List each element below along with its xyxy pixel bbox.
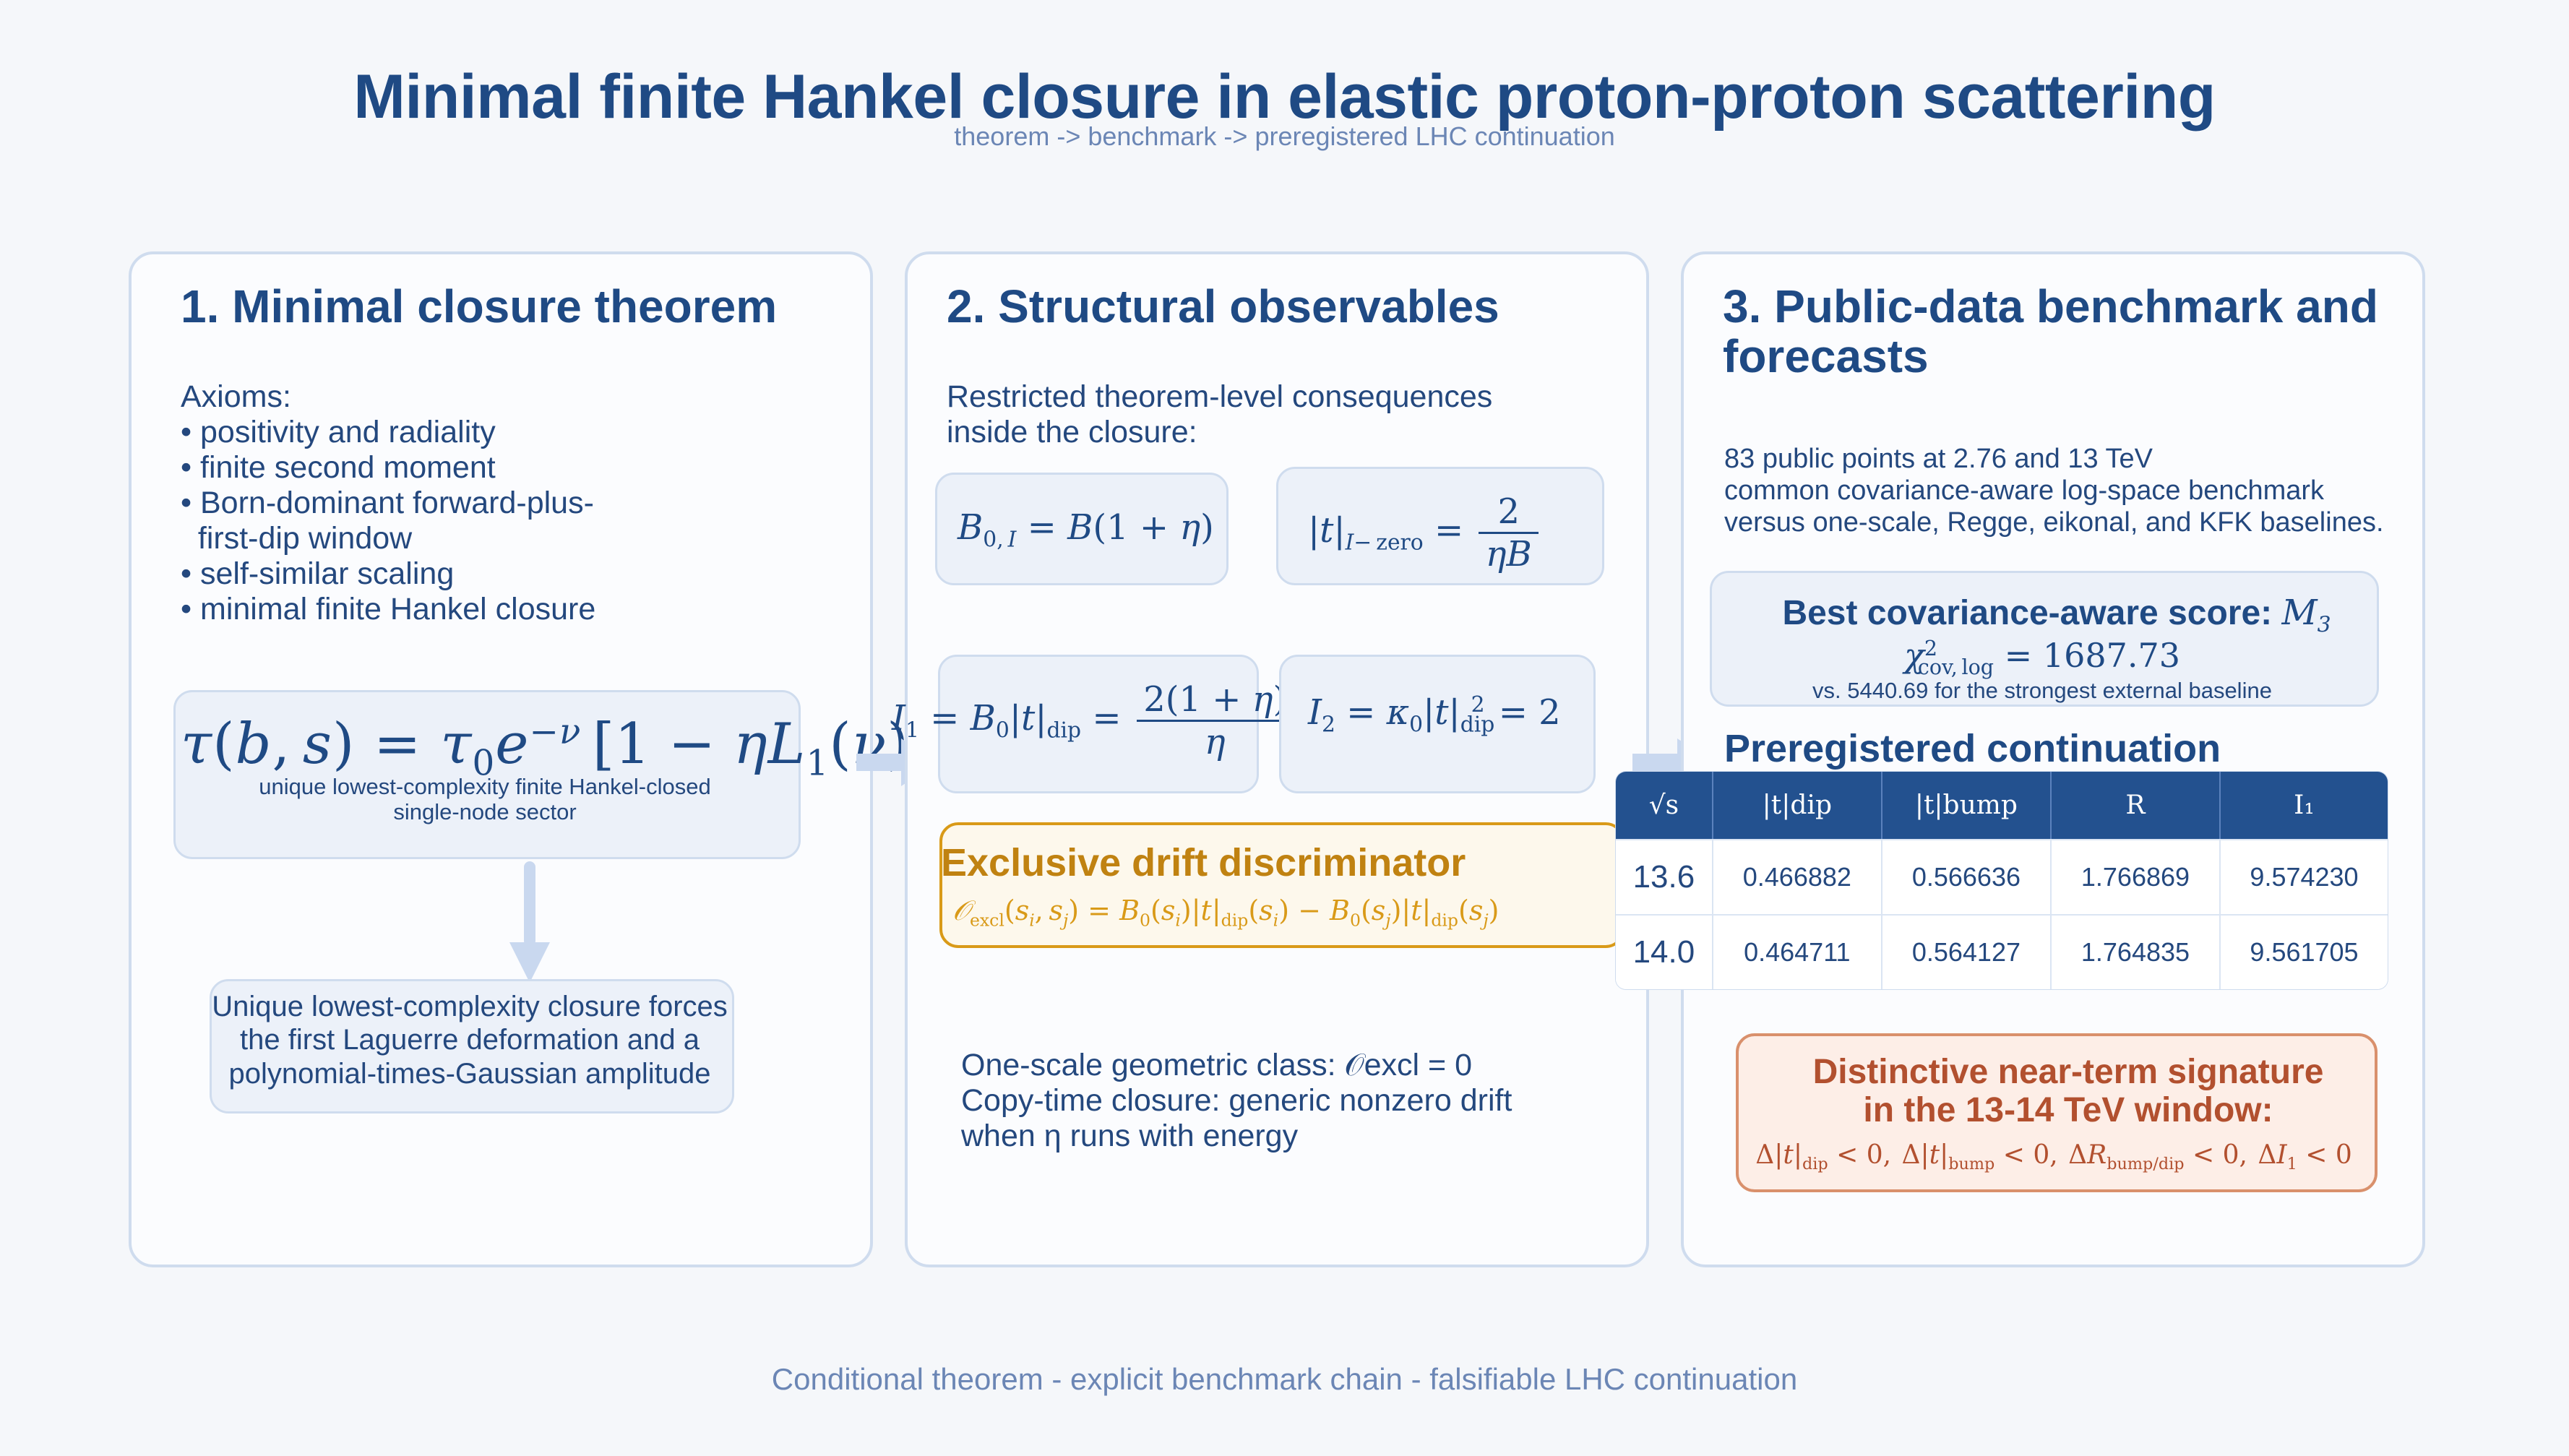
cell-t-bump: 0.566636 xyxy=(1882,839,2052,914)
table-row: 13.6 0.466882 0.566636 1.766869 9.574230 xyxy=(1616,839,2388,914)
panel3-description: 83 public points at 2.76 and 13 TeV comm… xyxy=(1724,443,2384,538)
table-header-t-dip: |t|dip xyxy=(1713,772,1882,839)
panel1-title: 1. Minimal closure theorem xyxy=(181,282,777,332)
panel3-signature-title: Distinctive near-term signature in the 1… xyxy=(1736,1054,2401,1130)
panel2-equation-t-izero: |t|I− zero = 2ηB xyxy=(1308,491,1543,574)
panel3-score-note: vs. 5440.69 for the strongest external b… xyxy=(1710,678,2375,704)
poster-canvas: Minimal finite Hankel closure in elastic… xyxy=(0,0,2569,1456)
table-header-row: √s |t|dip |t|bump R I₁ xyxy=(1616,772,2388,839)
table-header-sqrt-s: √s xyxy=(1616,772,1713,839)
panel1-equation-caption: unique lowest-complexity finite Hankel-c… xyxy=(173,775,796,824)
panel2-discriminator-title: Exclusive drift discriminator xyxy=(941,840,1656,885)
panel2-title: 2. Structural observables xyxy=(947,282,1499,332)
panel2-equation-b0i: B0, I = B(1 + η) xyxy=(958,507,1214,553)
cell-sqrt-s: 13.6 xyxy=(1616,839,1713,914)
panel1-main-equation: τ(b, s) = τ0e−ν [1 − ηL1(ν)] xyxy=(181,712,931,784)
panel2-discriminator-equation: 𝒪excl(si, sj) = B0(si)|t|dip(si) − B0(sj… xyxy=(952,895,1499,931)
panel3-signature-equation: Δ|t|dip < 0, Δ|t|bump < 0, ΔRbump/dip < … xyxy=(1736,1140,2372,1173)
panel3-title: 3. Public-data benchmark and forecasts xyxy=(1723,282,2445,382)
cell-r: 1.766869 xyxy=(2052,839,2221,914)
page-footer: Conditional theorem - explicit benchmark… xyxy=(0,1362,2569,1397)
panel2-bottom-text: One-scale geometric class: 𝒪excl = 0 Cop… xyxy=(961,1048,1512,1154)
panel1-axioms-list: Axioms: • positivity and radiality • fin… xyxy=(181,379,595,627)
panel3-score-equation: χ2cov, log = 1687.73 xyxy=(1710,636,2375,679)
table-row: 14.0 0.464711 0.564127 1.764835 9.561705 xyxy=(1616,914,2388,989)
panel2-intro-text: Restricted theorem-level consequences in… xyxy=(947,379,1492,450)
down-arrow-icon xyxy=(489,861,570,986)
cell-t-dip: 0.464711 xyxy=(1713,914,1882,989)
panel3-score-title: Best covariance-aware score: M3 xyxy=(1710,593,2404,638)
cell-t-dip: 0.466882 xyxy=(1713,839,1882,914)
table-header-i1: I₁ xyxy=(2221,772,2388,839)
panel2-equation-i2: I2 = κ0|t|dip2 = 2 xyxy=(1308,692,1561,738)
cell-i1: 9.561705 xyxy=(2221,914,2388,989)
panel3-signature-title-line1: Distinctive near-term signature xyxy=(1813,1053,2324,1091)
forecast-table: √s |t|dip |t|bump R I₁ 13.6 0.466882 0.5… xyxy=(1616,772,2388,989)
cell-i1: 9.574230 xyxy=(2221,839,2388,914)
cell-t-bump: 0.564127 xyxy=(1882,914,2052,989)
cell-r: 1.764835 xyxy=(2052,914,2221,989)
page-subtitle: theorem -> benchmark -> preregistered LH… xyxy=(0,121,2569,152)
table-header-r: R xyxy=(2052,772,2221,839)
panel1-conclusion-text: Unique lowest-complexity closure forces … xyxy=(210,990,730,1090)
panel2-equation-i1: I1 = B0|t|dip = 2(1 + η)η xyxy=(892,679,1298,762)
cell-sqrt-s: 14.0 xyxy=(1616,914,1713,989)
panel3-prereg-heading: Preregistered continuation xyxy=(1724,726,2447,771)
table-header-t-bump: |t|bump xyxy=(1882,772,2052,839)
panel3-signature-title-line2: in the 13-14 TeV window: xyxy=(1863,1091,2273,1129)
